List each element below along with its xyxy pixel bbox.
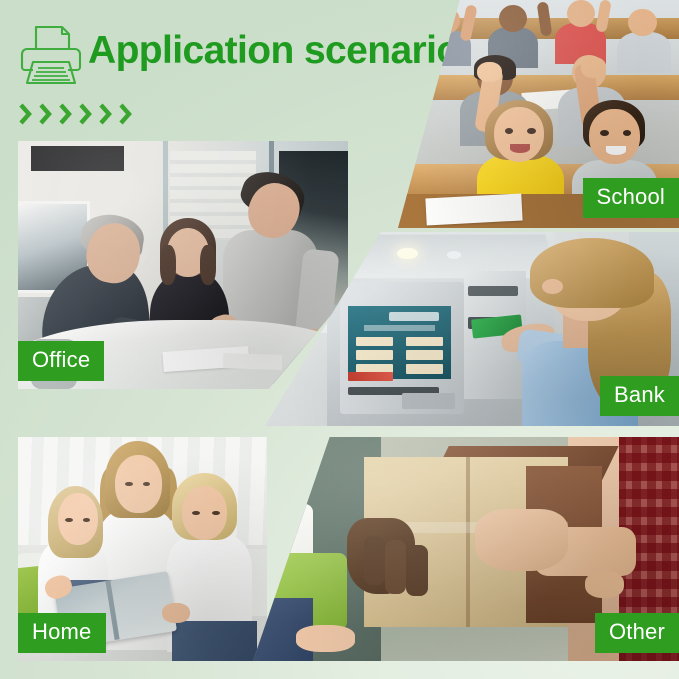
chevron-right-icon <box>37 101 56 127</box>
scenario-label-other: Other <box>595 613 679 653</box>
scenario-label-school: School <box>583 178 679 218</box>
scenario-label-home: Home <box>18 613 106 653</box>
chevron-right-icon <box>77 101 96 127</box>
scenario-panel-office: Office <box>18 141 348 389</box>
scenario-label-office: Office <box>18 341 104 381</box>
chevron-right-icon <box>57 101 76 127</box>
chevron-right-icon <box>17 101 36 127</box>
printer-icon <box>18 24 82 86</box>
chevron-right-icon <box>117 101 136 127</box>
infographic-page: Application scenarios <box>0 0 679 679</box>
scenario-panel-other: Other <box>253 437 679 661</box>
page-title: Application scenarios <box>88 29 481 73</box>
chevron-arrow-row <box>17 101 136 127</box>
scenario-panel-home: Home <box>18 437 267 661</box>
chevron-right-icon <box>97 101 116 127</box>
scenario-label-bank: Bank <box>600 376 679 416</box>
